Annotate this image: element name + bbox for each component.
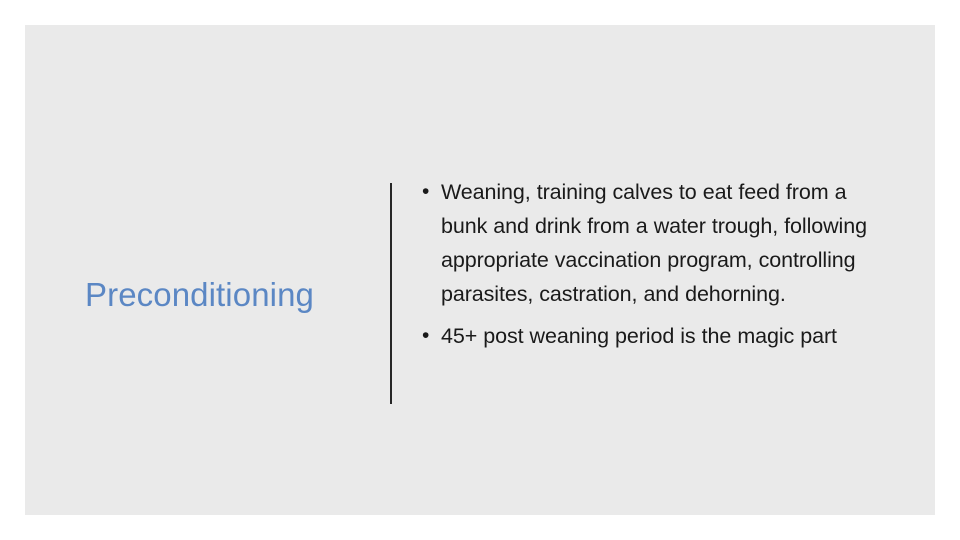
slide-canvas: Preconditioning • Weaning, training calv… xyxy=(25,25,935,515)
list-item-text: Weaning, training calves to eat feed fro… xyxy=(441,175,887,311)
presentation-slide: Preconditioning • Weaning, training calv… xyxy=(0,0,960,540)
vertical-divider-line xyxy=(390,183,392,404)
bullet-point-icon: • xyxy=(417,175,441,209)
list-item: • 45+ post weaning period is the magic p… xyxy=(417,319,887,353)
list-item: • Weaning, training calves to eat feed f… xyxy=(417,175,887,311)
bullet-point-icon: • xyxy=(417,319,441,353)
content-placeholder: • Weaning, training calves to eat feed f… xyxy=(417,175,887,361)
list-item-text: 45+ post weaning period is the magic par… xyxy=(441,319,887,353)
title-placeholder: Preconditioning xyxy=(85,265,375,325)
page-title: Preconditioning xyxy=(85,276,314,314)
